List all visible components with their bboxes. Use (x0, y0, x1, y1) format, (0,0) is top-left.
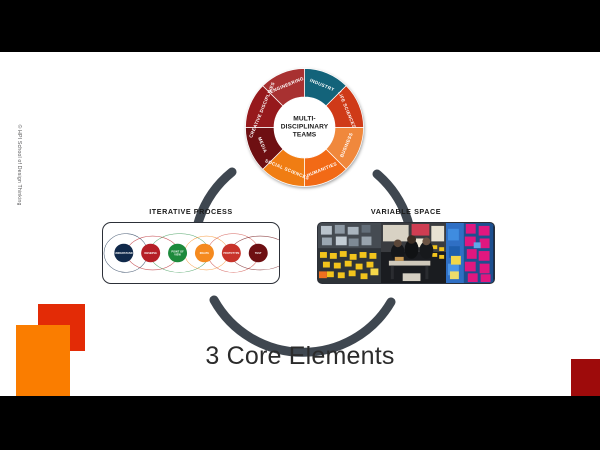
iterative-process-panel: UNDERSTANDOBSERVEPOINT OFVIEWIDEATEPROTO… (102, 222, 280, 284)
process-step-label: OBSERVE (144, 252, 157, 255)
copyright-notice: © HPI School of Design Thinking (16, 110, 22, 220)
wheel-center-line-1: MULTI- (274, 115, 336, 123)
photo-pink-sticky-notes (446, 223, 494, 283)
presentation-slide: © HPI School of Design Thinking (0, 52, 600, 396)
process-step-label: TEST (255, 252, 262, 255)
process-step-label: PROTOTYPE (223, 252, 239, 255)
iterative-process-svg: UNDERSTANDOBSERVEPOINT OFVIEWIDEATEPROTO… (103, 223, 279, 283)
process-step-label: IDEATE (200, 252, 210, 255)
process-step-circles: UNDERSTANDOBSERVEPOINT OFVIEWIDEATEPROTO… (114, 244, 267, 263)
photo-sticky-notes-wall (318, 223, 381, 283)
slide-screenshot: © HPI School of Design Thinking (0, 0, 600, 450)
process-step-label: UNDERSTAND (115, 252, 133, 255)
variable-space-panel (317, 222, 495, 284)
photo-team-working (381, 223, 446, 283)
wheel-center-line-2: DISCIPLINARY (274, 123, 336, 131)
wheel-center-label: MULTI- DISCIPLINARY TEAMS (274, 115, 336, 140)
letterbox-top (0, 0, 600, 52)
variable-space-title: VARIABLE SPACE (317, 207, 495, 216)
iterative-process-title: ITERATIVE PROCESS (102, 207, 280, 216)
wheel-center-line-3: TEAMS (274, 132, 336, 140)
multidisciplinary-teams-wheel: INDUSTRYLIFE SCIENCESBUSINESSHUMANITIESS… (237, 60, 372, 195)
letterbox-bottom (0, 396, 600, 450)
slide-title: 3 Core Elements (0, 342, 600, 371)
